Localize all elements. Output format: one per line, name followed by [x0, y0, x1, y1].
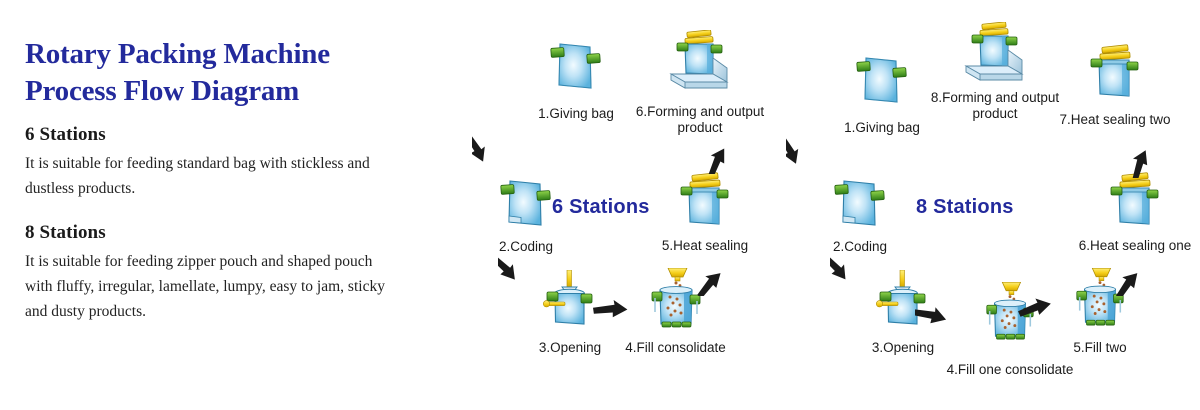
arrow-step7-to-step8 — [980, 48, 1040, 84]
page-title: Rotary Packing Machine Process Flow Diag… — [25, 36, 425, 110]
arrow-step6-to-step7 — [1120, 130, 1164, 178]
arrow-step1-to-step2 — [472, 128, 518, 174]
arrow-step4-to-step5 — [1015, 290, 1065, 322]
section-body-6: It is suitable for feeding standard bag … — [25, 151, 395, 201]
arrow-step1-to-step2 — [786, 130, 832, 178]
section-heading-8: 8 Stations — [25, 222, 425, 244]
empty-bag-icon — [546, 38, 606, 98]
flow-step-7-heat-sealing-two[interactable]: 7.Heat sealing two — [1040, 44, 1190, 149]
coded-bag-icon — [830, 175, 890, 235]
arrow-step2-to-step3 — [830, 248, 878, 292]
section-body-8: It is suitable for feeding zipper pouch … — [25, 249, 395, 324]
flow-step-3-label: 3.Opening — [539, 340, 601, 356]
section-8-stations: 8 Stations It is suitable for feeding zi… — [25, 222, 425, 324]
flow-diagram-6-stations: 6 Stations 1.Giving bag 6.Forming and ou… — [440, 0, 780, 410]
arrow-step2-to-step3 — [498, 248, 546, 292]
flow-step-1-label: 1.Giving bag — [844, 120, 920, 136]
sealed-bag-icon — [674, 172, 736, 234]
sealed-bag-icon — [1084, 44, 1146, 106]
flow-step-6-forming-output[interactable]: 6.Forming and output product — [620, 30, 780, 140]
flow-step-7-label: 7.Heat sealing two — [1059, 112, 1170, 128]
flow-step-1-giving-bag[interactable]: 1.Giving bag — [516, 38, 636, 138]
opening-bag-icon — [540, 270, 600, 334]
section-heading-6: 6 Stations — [25, 124, 425, 146]
sealed-bag-icon — [1104, 172, 1166, 234]
arrow-step5-to-step6 — [1108, 250, 1154, 296]
flow-step-1-label: 1.Giving bag — [538, 106, 614, 122]
arrow-step3-to-step4 — [592, 298, 642, 324]
intro-panel: Rotary Packing Machine Process Flow Diag… — [0, 0, 440, 410]
flow-diagram-8-stations: 8 Stations 1.Giving bag 8.Forming and ou… — [790, 0, 1200, 410]
arrow-step3-to-step4 — [915, 300, 965, 332]
section-6-stations: 6 Stations It is suitable for feeding st… — [25, 124, 425, 201]
diagram-8-center-title: 8 Stations — [916, 196, 1014, 219]
arrow-step5-to-step6 — [698, 126, 742, 174]
empty-bag-icon — [852, 52, 912, 112]
flow-step-4-label: 4.Fill consolidate — [625, 340, 726, 356]
arrow-step4-to-step5 — [690, 250, 736, 296]
flow-step-5-label: 5.Fill two — [1073, 340, 1126, 356]
coded-bag-icon — [496, 175, 556, 235]
output-bag-icon — [667, 30, 733, 96]
